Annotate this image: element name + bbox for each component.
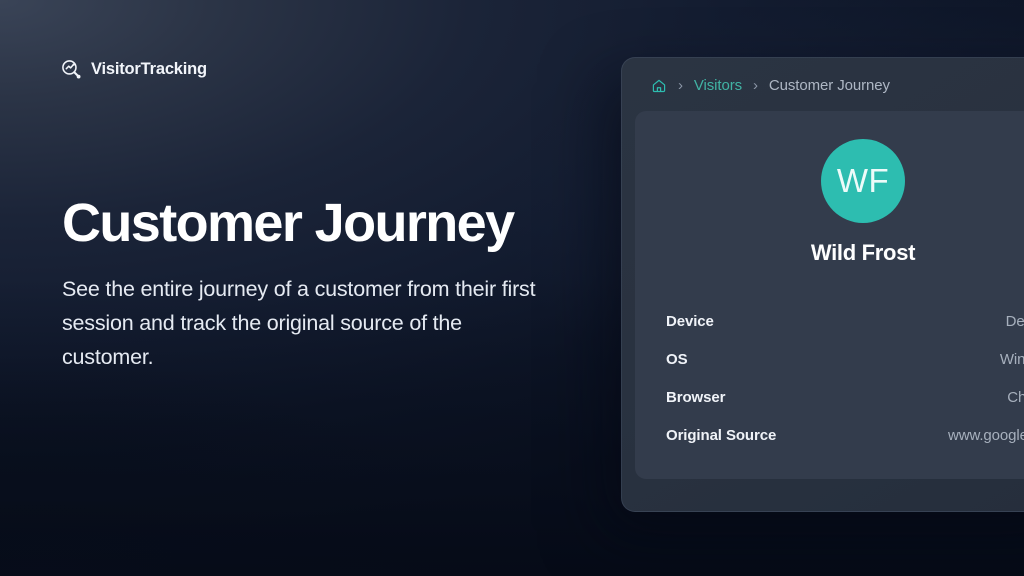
page-subtitle: See the entire journey of a customer fro… [62,273,557,375]
detail-value: Desktop [1006,313,1024,330]
visitor-name: Wild Frost [665,240,1024,266]
breadcrumb-item-visitors[interactable]: Visitors [694,77,742,94]
magnifier-chart-icon [60,58,82,80]
detail-label: OS [666,351,687,368]
avatar-initials: WF [837,162,889,200]
detail-row-os: OS Windows [666,351,1024,389]
breadcrumb: › Visitors › Customer Journey [622,58,1024,94]
detail-row-original-source: Original Source www.google.com [666,427,1024,465]
detail-label: Browser [666,389,725,406]
visitor-profile-card: WF Wild Frost Device Desktop OS Windows … [635,111,1024,479]
breadcrumb-item-customer-journey: Customer Journey [769,77,890,94]
detail-value: Chrome [1007,389,1024,406]
detail-value: Windows [1000,351,1024,368]
page-title: Customer Journey [62,196,602,251]
detail-label: Device [666,313,714,330]
detail-label: Original Source [666,427,776,444]
breadcrumb-separator-2: › [753,78,758,93]
avatar: WF [821,139,905,223]
hero-section: Customer Journey See the entire journey … [62,196,602,375]
brand-logo[interactable]: VisitorTracking [60,58,207,80]
detail-row-device: Device Desktop [666,313,1024,351]
breadcrumb-separator-1: › [678,78,683,93]
home-icon[interactable] [651,78,667,94]
brand-name: VisitorTracking [91,60,207,79]
app-preview-panel: › Visitors › Customer Journey WF Wild Fr… [621,57,1024,512]
visitor-details-list: Device Desktop OS Windows Browser Chrome… [665,313,1024,465]
detail-value: www.google.com [948,427,1024,444]
detail-row-browser: Browser Chrome [666,389,1024,427]
